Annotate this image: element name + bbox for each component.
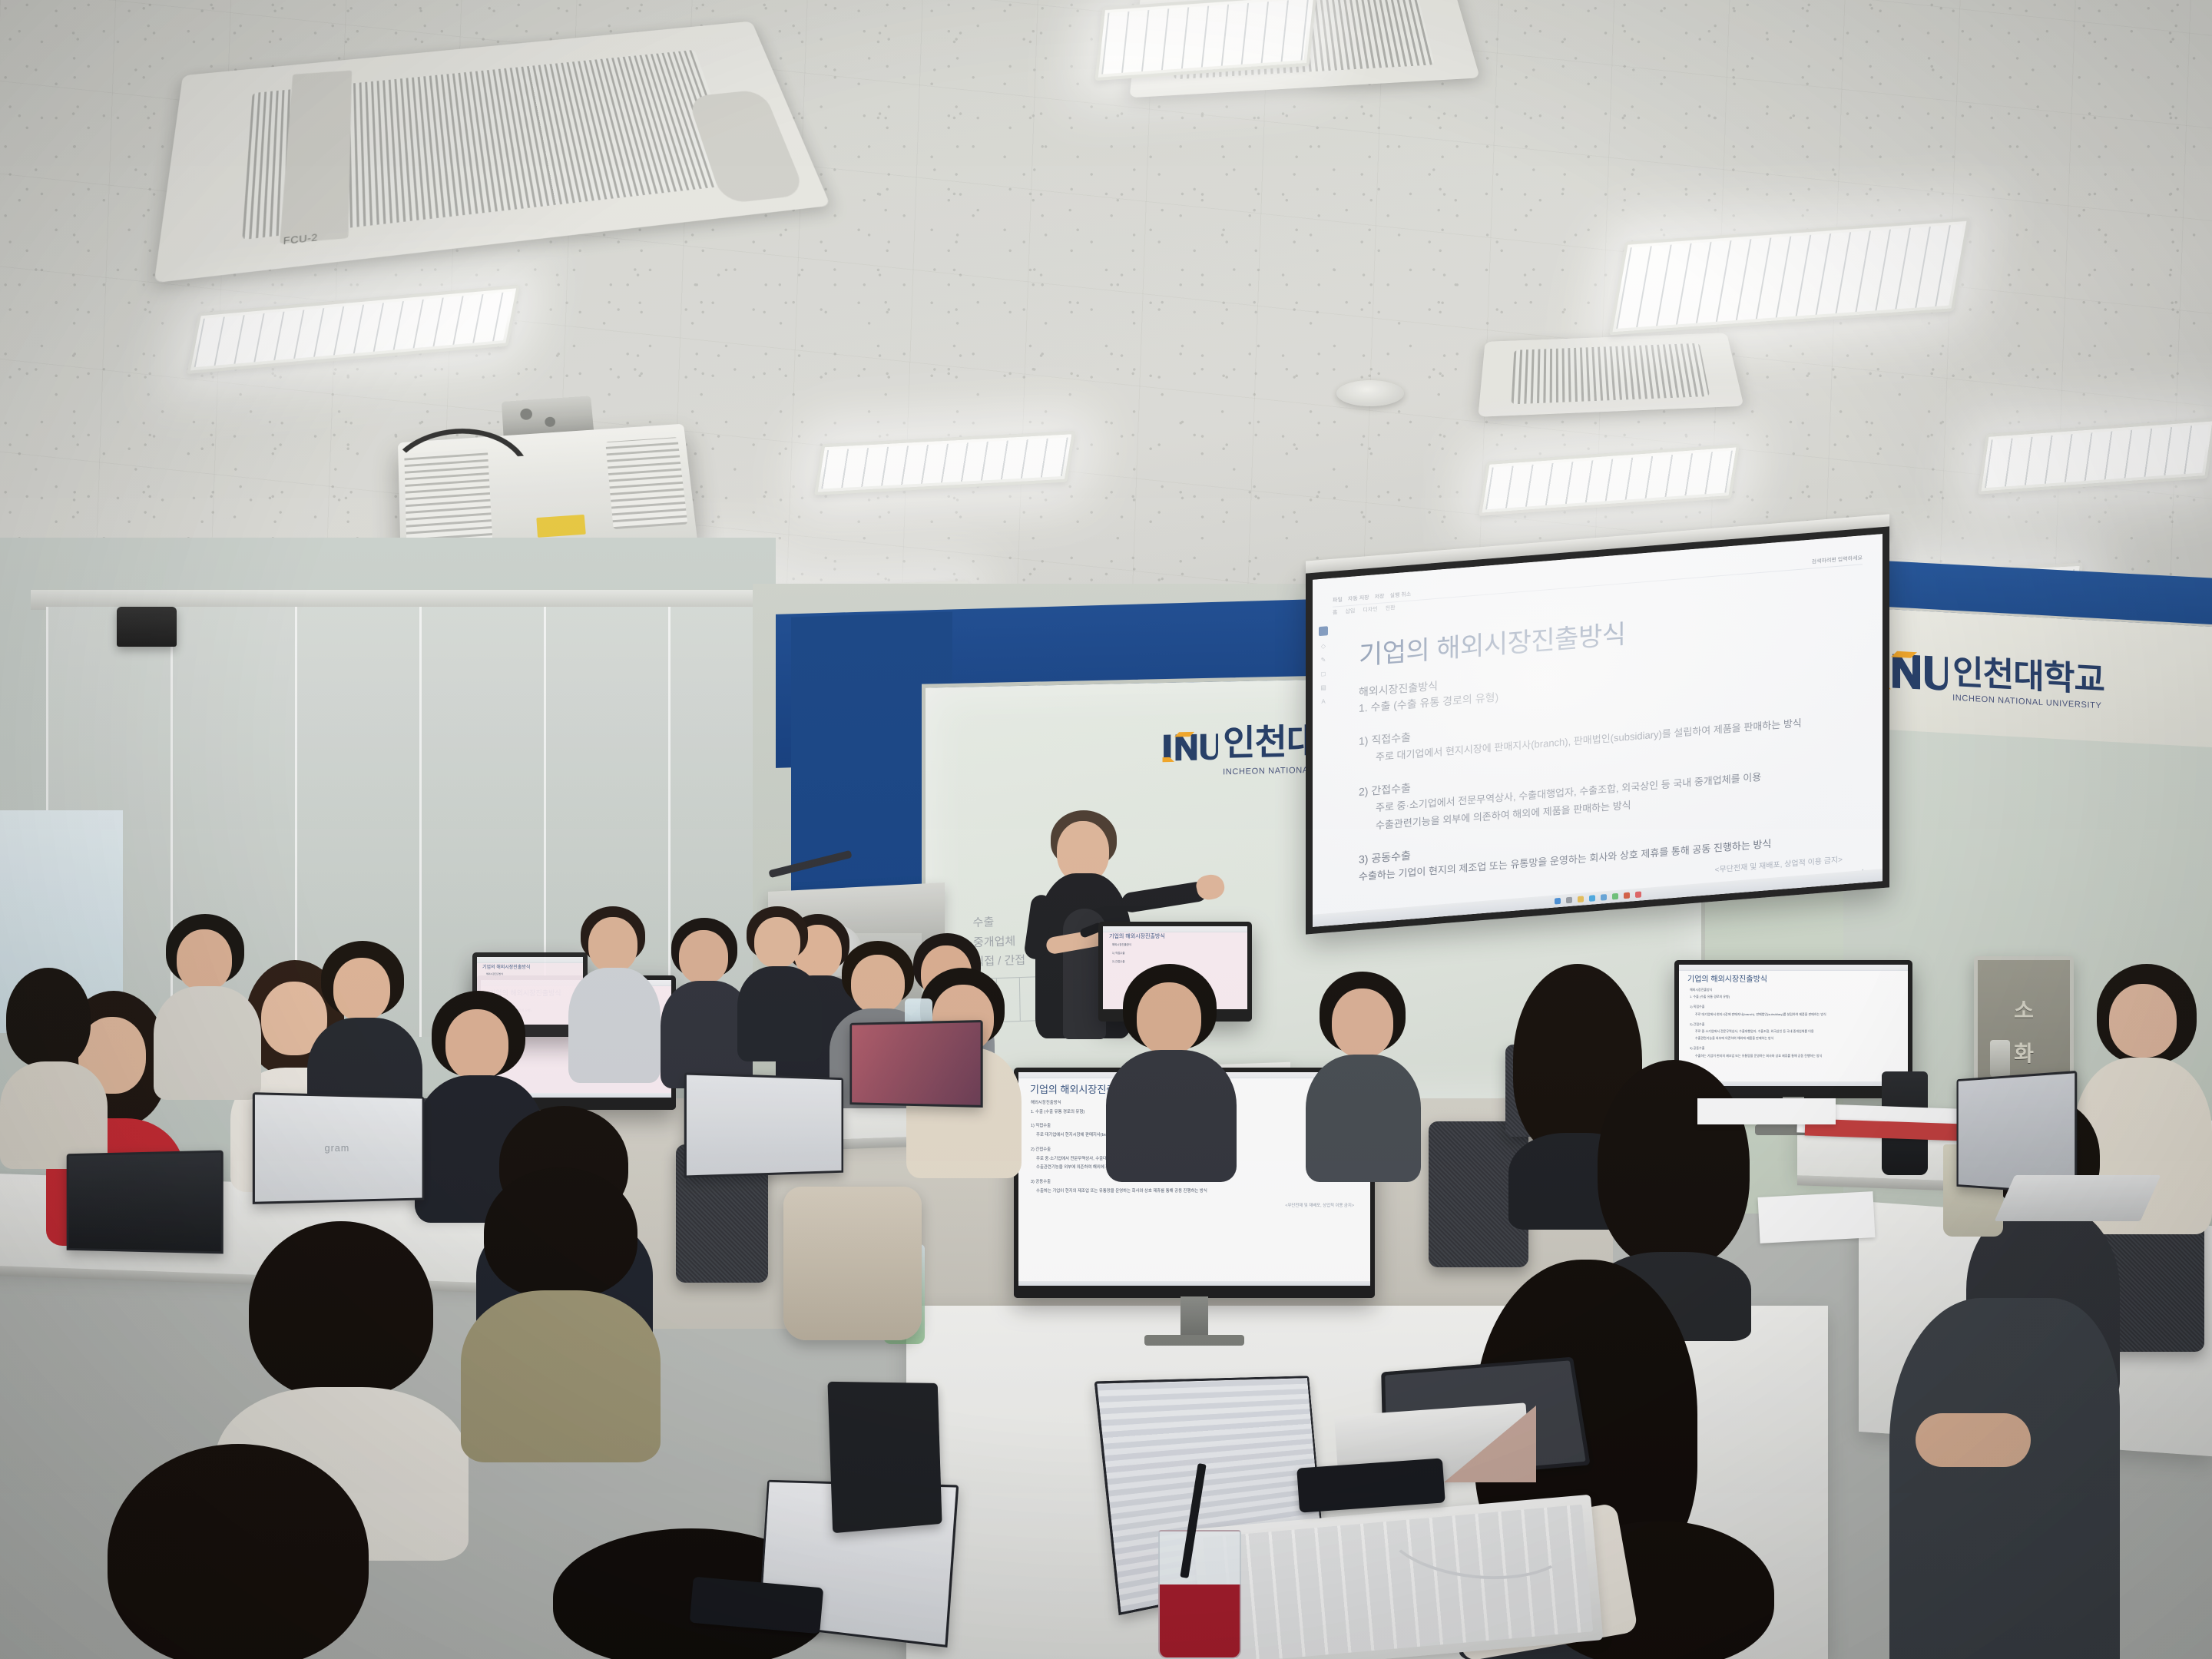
taskbar-start-icon[interactable] [1555,898,1561,905]
taskbar-edge-icon[interactable] [1589,895,1595,902]
student [1889,1298,2120,1659]
ribbon-tool-autosave[interactable]: 자동 저장 [1348,593,1369,602]
projector-warning-label [536,515,585,538]
rail-glyph: A [1321,698,1325,705]
ac-vane [280,71,352,244]
monitor-right-line-3: 수출관련기능을 외부에 의존하여 해외에 제품을 판매하는 방식 [1695,1035,1904,1041]
monitor-right-section-line: 1. 수출 (수출 유통 경로의 유형) [1690,994,1904,999]
student [1306,972,1421,1179]
taskbar-mail-icon[interactable] [1601,894,1607,901]
ribbon-tab-transitions[interactable]: 전환 [1386,604,1396,612]
student [77,1444,407,1659]
student [737,906,822,1060]
cabinet-handle-icon[interactable] [1990,1040,2010,1077]
monitor-far-left-title: 기업의 해외시장진출방식 [482,963,581,970]
taskbar-search-icon[interactable] [1566,897,1572,904]
monitor-base [1144,1335,1244,1346]
slide-footer: <무단전재 및 재배포, 상업적 이용 금지> [1715,853,1843,874]
monitor-right-title: 기업의 해외시장진출방식 [1687,972,1904,984]
paper-sheet [1758,1191,1876,1243]
slide-search-box[interactable]: 검색하려면 입력하세요 [1812,554,1863,565]
monitor-right-item-1: 1) 직접수출 [1690,1004,1904,1009]
spiral-notebook[interactable] [1697,1098,1836,1124]
smoke-detector-icon [1336,380,1404,406]
student-hands [1916,1413,2031,1467]
monitor-right-item-2: 2) 간접수출 [1690,1022,1904,1027]
monitor-far-left-section: 해외시장진출방식 [486,972,581,976]
ribbon-tab-design[interactable]: 디자인 [1363,605,1377,614]
fire-cabinet-char-2: 화 [2014,1037,2034,1068]
inu-logo-mark-icon [1161,730,1218,763]
tablet-left[interactable] [827,1382,942,1533]
inu-logo-korean: 인천대학교 [1952,653,2104,699]
ribbon-tool-save[interactable]: 저장 [1375,592,1385,601]
monitor-right-section: 해외시장진출방식 [1690,987,1904,992]
iced-drink-cup[interactable] [1158,1530,1241,1659]
taskbar-powerpoint-icon[interactable] [1624,892,1630,899]
wall-speaker [117,607,177,647]
monitor-slide-line-3-1: 수출하는 기업이 현지의 제조업 또는 유통망을 운영하는 회사와 상호 제휴를… [1036,1188,1365,1196]
monitor-slide-footer: <무단전재 및 재배포, 상업적 이용 금지> [1031,1203,1354,1210]
ribbon-tool-undo[interactable]: 실행 취소 [1390,590,1412,599]
projector-vent-icon [605,437,687,529]
student [1106,964,1237,1179]
monitor-stand [1181,1296,1208,1338]
inu-logo: 인천대학교 INCHEON NATIONAL UNIVERSITY [1874,640,2104,710]
monitor-right-line-1: 주로 대기업에서 현지시장에 판매지사(branch), 판매법인(subsid… [1695,1012,1904,1017]
student [461,1167,661,1459]
laptop-center-back[interactable] [845,1022,1006,1121]
rail-glyph: ✎ [1321,656,1326,664]
inu-wall-sign: 인천대학교 INCHEON NATIONAL UNIVERSITY [1843,604,2212,747]
classroom-photo: FCU-2 [0,0,2212,1659]
slide-thumbnail-icon[interactable] [1319,626,1328,636]
ribbon-tab-file[interactable]: 파일 [1333,595,1343,604]
ceiling-ac-unit-rear [1478,333,1743,417]
ribbon-tab-insert[interactable]: 삽입 [1345,607,1355,615]
laptop-brand-mark: gram [325,1142,350,1154]
laptop-gram[interactable]: gram [253,1094,445,1225]
student [154,914,261,1098]
student [0,968,108,1167]
taskbar-chrome-icon[interactable] [1612,893,1618,900]
monitor-podium-section: 해외시장진출방식 [1112,942,1245,947]
monitor-right-item-3: 3) 공동수출 [1690,1045,1904,1051]
slide-side-rail: ◇ ✎ ◻ ▤ A [1317,626,1330,705]
taskbar-hwp-icon[interactable] [1635,891,1641,898]
ac-grille-icon [1511,343,1710,404]
presentation-slide: 파일 자동 저장 저장 실행 취소 검색하려면 입력하세요 홈 삽입 디자인 전… [1313,534,1883,927]
student [568,906,661,1083]
taskbar-explorer-icon[interactable] [1578,896,1584,902]
backpack[interactable] [783,1187,922,1340]
ribbon-tab-home[interactable]: 홈 [1333,608,1337,617]
rail-glyph: ◇ [1321,642,1326,649]
monitor-podium-title: 기업의 해외시장진출방식 [1109,932,1245,940]
monitor-right-line-4: 수출하는 기업이 현지의 제조업 또는 유통망을 운영하는 회사와 상호 제휴를… [1695,1053,1904,1058]
rail-glyph: ◻ [1321,670,1326,677]
rail-glyph: ▤ [1320,684,1326,691]
monitor-podium-item-1: 1) 직접수출 [1112,951,1245,955]
laptop-left-desk[interactable] [61,1152,238,1275]
monitor-right-line-2: 주로 중·소기업에서 전문무역상사, 수출대행업자, 수출조합, 외국상인 등 … [1695,1028,1904,1034]
projection-screen: 파일 자동 저장 저장 실행 취소 검색하려면 입력하세요 홈 삽입 디자인 전… [1306,526,1889,934]
laptop-right[interactable] [1943,1075,2143,1221]
fire-cabinet-char-1: 소 [2014,994,2034,1025]
